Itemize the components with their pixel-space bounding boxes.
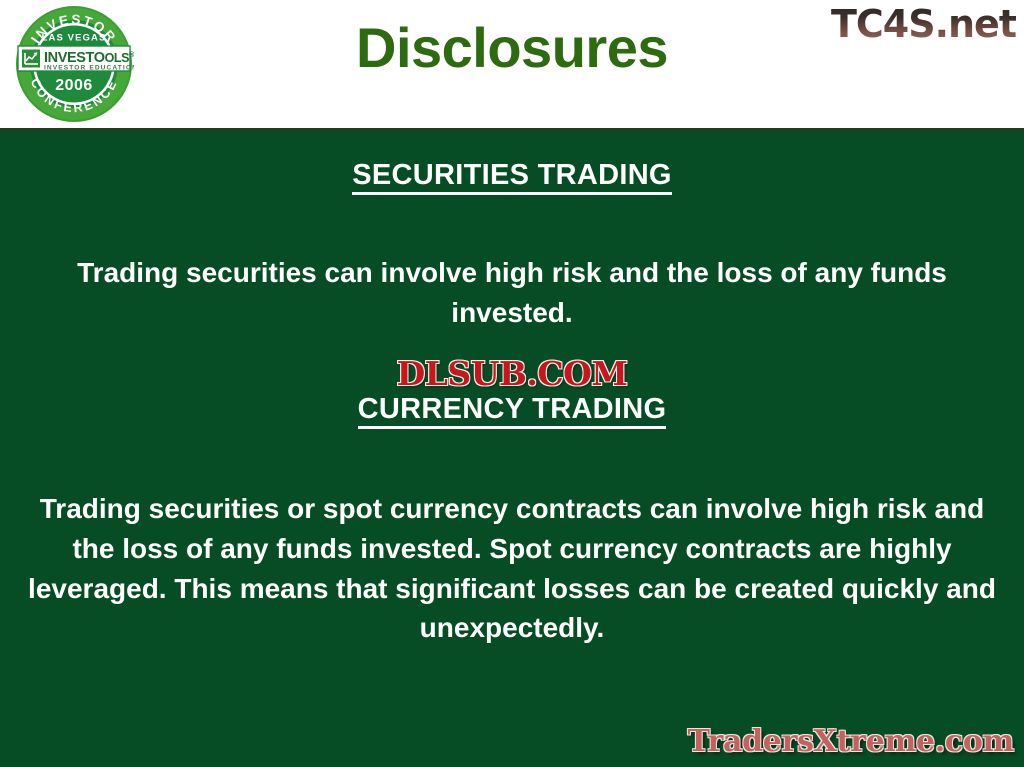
section-paragraph-currency: Trading securities or spot currency cont… — [24, 489, 1000, 648]
logo-year-text: 2006 — [55, 77, 93, 94]
tc4s-watermark: TC4S.net — [831, 2, 1016, 46]
tradersxtreme-watermark: TradersXtreme.com — [688, 724, 1014, 759]
slide-body: SECURITIES TRADING Trading securities ca… — [0, 132, 1024, 767]
slide-canvas: INVESTOR CONFERENCE LAS VEGAS INVESTOOLS… — [0, 0, 1024, 767]
section-heading-currency: CURRENCY TRADING — [0, 393, 1024, 426]
section-heading-securities-text: SECURITIES TRADING — [352, 159, 672, 195]
dlsub-watermark: DLSUB.COM — [0, 354, 1024, 393]
section-paragraph-securities: Trading securities can involve high risk… — [30, 253, 994, 333]
tradersxtreme-watermark-text: TradersXtreme.com — [688, 724, 1014, 759]
section-heading-currency-text: CURRENCY TRADING — [358, 393, 667, 429]
dlsub-watermark-text: DLSUB.COM — [397, 354, 628, 393]
slide-header: INVESTOR CONFERENCE LAS VEGAS INVESTOOLS… — [0, 0, 1024, 131]
section-heading-securities: SECURITIES TRADING — [0, 159, 1024, 192]
